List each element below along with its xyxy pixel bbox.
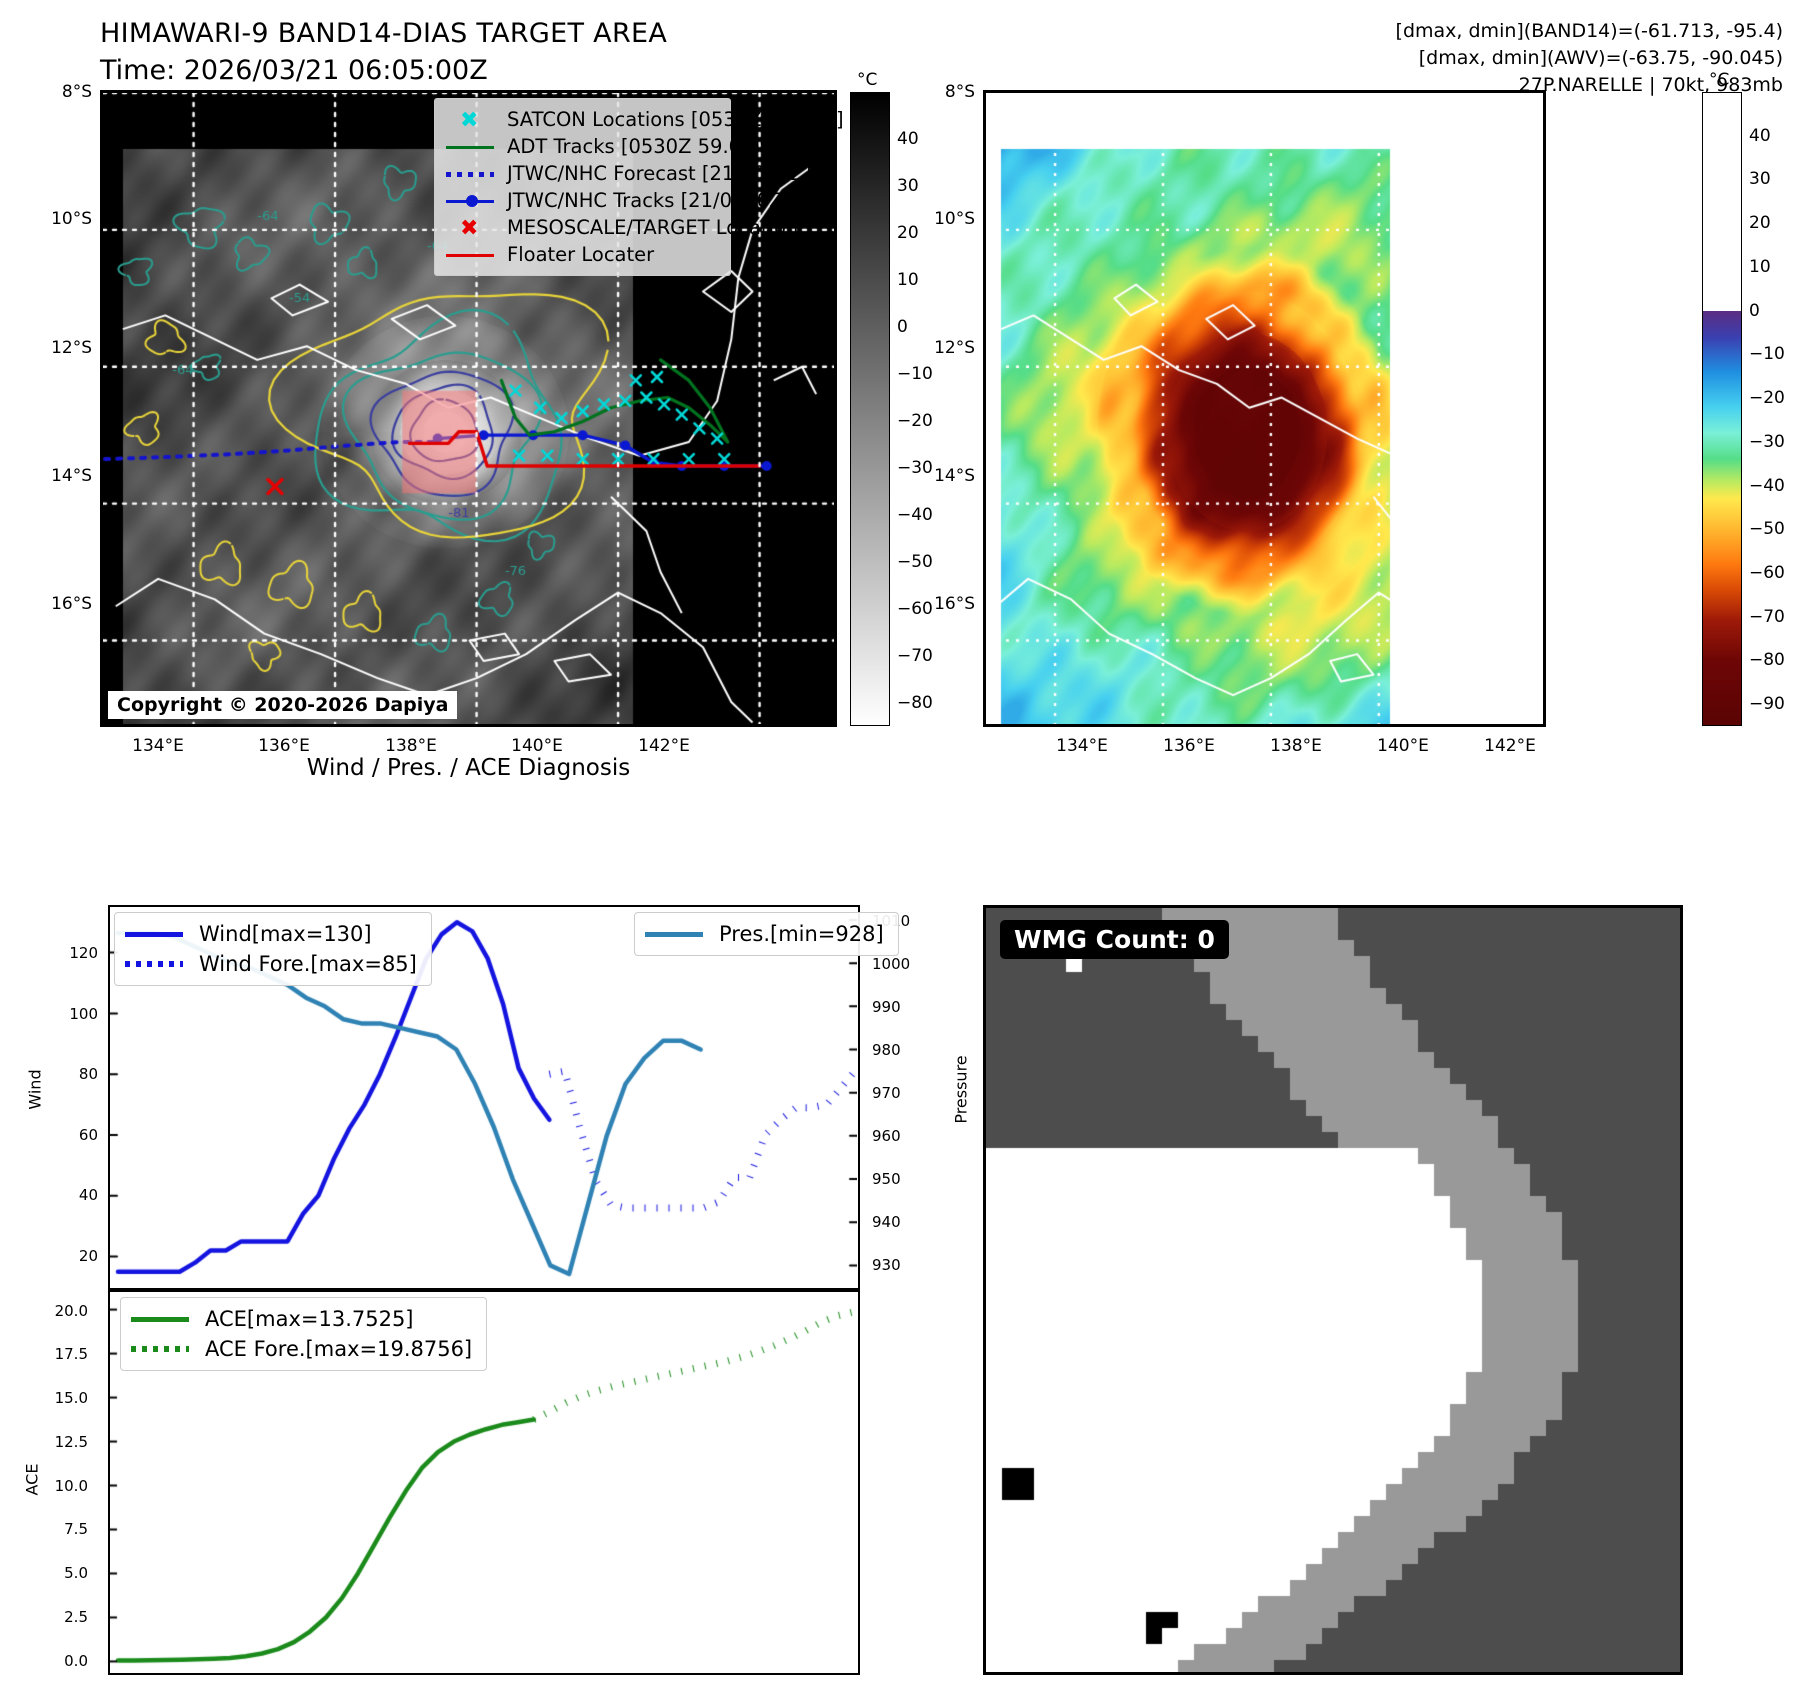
legend-item-mesoscale-target[interactable]: ✖ MESOSCALE/TARGET Location [444, 214, 719, 241]
legend-label: MESOSCALE/TARGET Location [507, 216, 798, 239]
dotted-line-icon [444, 163, 496, 185]
axis-tick-label: 100 [38, 1005, 98, 1023]
colorbar-tick-label: −80 [1749, 650, 1785, 670]
ace-chart-legend: ACE[max=13.7525] ACE Fore.[max=19.8756] [120, 1297, 487, 1371]
copyright-notice: Copyright © 2020-2026 Dapiya [108, 691, 457, 719]
legend-item-satcon[interactable]: ✖ SATCON Locations [0530Z 72 975] [444, 106, 719, 133]
legend-label: ACE Fore.[max=19.8756] [205, 1337, 472, 1361]
colorbar-right [1702, 92, 1742, 726]
axis-tick-label: 960 [872, 1127, 932, 1145]
lon-tick-label: 136°E [244, 736, 324, 756]
axis-tick-label: 10.0 [28, 1477, 88, 1495]
legend-label: ADT Tracks [0530Z 59.0 990.8] [507, 135, 811, 158]
dotted-line-icon [123, 954, 185, 974]
wind-chart-legend: Wind[max=130] Wind Fore.[max=85] [114, 912, 432, 986]
lat-tick-label: 8°S [28, 82, 92, 102]
colorbar-tick-label: 10 [897, 270, 919, 290]
pressure-axis-title: Pressure [952, 1050, 971, 1130]
legend-label: Wind Fore.[max=85] [199, 952, 417, 976]
axis-tick-label: 940 [872, 1213, 932, 1231]
lon-tick-label: 138°E [1256, 736, 1336, 756]
axis-tick-label: 0.0 [28, 1652, 88, 1670]
line-icon [444, 136, 496, 158]
colorbar-left [850, 92, 890, 726]
lat-tick-label: 14°S [911, 466, 975, 486]
wmg-count-badge: WMG Count: 0 [1000, 920, 1229, 959]
meta-band14-range: [dmax, dmin](BAND14)=(-61.713, -95.4) [1396, 18, 1783, 45]
legend-label: ACE[max=13.7525] [205, 1307, 414, 1331]
axis-tick-label: 120 [38, 944, 98, 962]
wmg-cloud-mask-panel[interactable] [983, 905, 1683, 1675]
page-title: HIMAWARI-9 BAND14-DIAS TARGET AREA Time:… [100, 18, 667, 86]
colorbar-tick-label: 30 [1749, 169, 1771, 189]
x-marker-icon: ✖ [444, 109, 496, 131]
colorbar-tick-label: −70 [897, 646, 933, 666]
line-icon [444, 244, 496, 266]
lat-tick-label: 10°S [28, 209, 92, 229]
pressure-chart-legend: Pres.[min=928] [634, 912, 899, 956]
axis-tick-label: 15.0 [28, 1389, 88, 1407]
lon-tick-label: 134°E [118, 736, 198, 756]
axis-tick-label: 930 [872, 1256, 932, 1274]
colorbar-tick-label: −10 [897, 364, 933, 384]
legend-label: Pres.[min=928] [719, 922, 884, 946]
colorbar-tick-label: −60 [1749, 563, 1785, 583]
colorbar-tick-label: −30 [1749, 432, 1785, 452]
lon-tick-label: 142°E [1470, 736, 1550, 756]
colorbar-tick-label: 10 [1749, 257, 1771, 277]
axis-tick-label: 5.0 [28, 1564, 88, 1582]
colorbar-tick-label: −20 [897, 411, 933, 431]
colorbar-tick-label: −70 [1749, 607, 1785, 627]
colorbar-tick-label: −50 [897, 552, 933, 572]
colorbar-tick-label: −10 [1749, 344, 1785, 364]
colorbar-tick-label: −20 [1749, 388, 1785, 408]
colorbar-tick-label: −40 [897, 505, 933, 525]
colorbar-tick-label: 30 [897, 176, 919, 196]
lat-tick-label: 14°S [28, 466, 92, 486]
axis-tick-label: 20.0 [28, 1302, 88, 1320]
colorbar-tick-label: −80 [897, 693, 933, 713]
legend-label: SATCON Locations [0530Z 72 975] [507, 108, 844, 131]
legend-item-wind-forecast[interactable]: Wind Fore.[max=85] [123, 949, 417, 979]
lat-tick-label: 16°S [911, 594, 975, 614]
axis-tick-label: 40 [38, 1186, 98, 1204]
colorbar-tick-label: −50 [1749, 519, 1785, 539]
lon-tick-label: 134°E [1042, 736, 1122, 756]
legend-label: Floater Locater [507, 243, 654, 266]
legend-label: Wind[max=130] [199, 922, 372, 946]
colorbar-tick-label: 20 [1749, 213, 1771, 233]
legend-item-adt-tracks[interactable]: ADT Tracks [0530Z 59.0 990.8] [444, 133, 719, 160]
line-icon [643, 924, 705, 944]
lon-tick-label: 138°E [371, 736, 451, 756]
legend-item-floater-locater[interactable]: Floater Locater [444, 241, 719, 268]
colorbar-tick-label: 0 [1749, 301, 1760, 321]
colorbar-tick-label: 40 [897, 129, 919, 149]
lon-tick-label: 140°E [1363, 736, 1443, 756]
colorbar-right-unit: °C [1709, 70, 1729, 90]
x-marker-icon: ✖ [444, 217, 496, 239]
line-icon [129, 1309, 191, 1329]
colorbar-left-unit: °C [857, 70, 877, 90]
satellite-map-awv[interactable] [983, 90, 1546, 727]
axis-tick-label: 990 [872, 998, 932, 1016]
legend-item-ace-forecast[interactable]: ACE Fore.[max=19.8756] [129, 1334, 472, 1364]
lat-tick-label: 16°S [28, 594, 92, 614]
lat-tick-label: 12°S [28, 338, 92, 358]
diagnosis-panel-title: Wind / Pres. / ACE Diagnosis [100, 755, 837, 781]
map-legend: ✖ SATCON Locations [0530Z 72 975] ADT Tr… [434, 98, 731, 276]
colorbar-tick-label: 40 [1749, 126, 1771, 146]
line-icon [123, 924, 185, 944]
legend-label: JTWC/NHC Tracks [21/0000Z] [507, 189, 790, 212]
colorbar-tick-label: −40 [1749, 476, 1785, 496]
dotted-line-icon [129, 1339, 191, 1359]
meta-awv-range: [dmax, dmin](AWV)=(-63.75, -90.045) [1396, 45, 1783, 72]
colorbar-tick-label: 0 [897, 317, 908, 337]
axis-tick-label: 12.5 [28, 1433, 88, 1451]
line-dot-icon [444, 190, 496, 212]
axis-tick-label: 2.5 [28, 1608, 88, 1626]
legend-item-wind[interactable]: Wind[max=130] [123, 919, 417, 949]
legend-item-jtwc-forecast[interactable]: JTWC/NHC Forecast [21/0000Z] [444, 160, 719, 187]
axis-tick-label: 80 [38, 1065, 98, 1083]
legend-item-pressure[interactable]: Pres.[min=928] [643, 919, 884, 949]
axis-tick-label: 20 [38, 1247, 98, 1265]
page-title-line1: HIMAWARI-9 BAND14-DIAS TARGET AREA [100, 18, 667, 49]
legend-label: JTWC/NHC Forecast [21/0000Z] [507, 162, 812, 185]
axis-tick-label: 1000 [872, 955, 932, 973]
legend-item-ace[interactable]: ACE[max=13.7525] [129, 1304, 472, 1334]
colorbar-tick-label: −90 [1749, 694, 1785, 714]
lon-tick-label: 136°E [1149, 736, 1229, 756]
lat-tick-label: 12°S [911, 338, 975, 358]
lat-tick-label: 10°S [911, 209, 975, 229]
legend-item-jtwc-tracks[interactable]: JTWC/NHC Tracks [21/0000Z] [444, 187, 719, 214]
axis-tick-label: 60 [38, 1126, 98, 1144]
axis-tick-label: 7.5 [28, 1520, 88, 1538]
lon-tick-label: 142°E [624, 736, 704, 756]
axis-tick-label: 980 [872, 1041, 932, 1059]
lon-tick-label: 140°E [497, 736, 577, 756]
axis-tick-label: 950 [872, 1170, 932, 1188]
axis-tick-label: 17.5 [28, 1345, 88, 1363]
axis-tick-label: 970 [872, 1084, 932, 1102]
page-title-line2: Time: 2026/03/21 06:05:00Z [100, 55, 667, 86]
lat-tick-label: 8°S [911, 82, 975, 102]
